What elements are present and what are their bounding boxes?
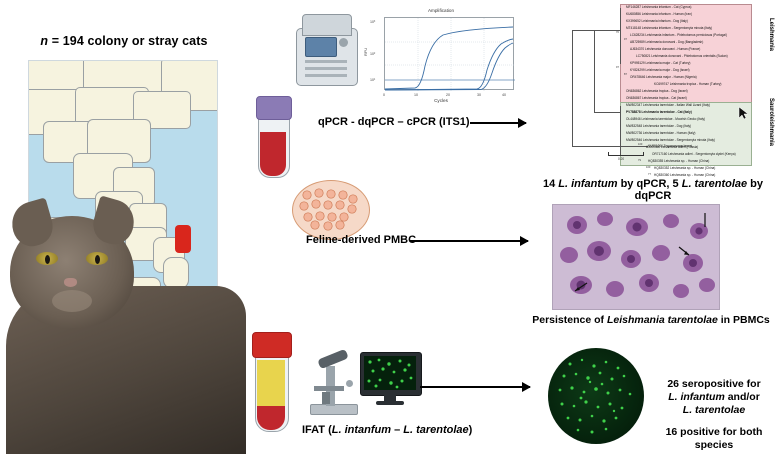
microscope-objective xyxy=(322,392,330,404)
bootstrap-1: 97 xyxy=(624,38,627,41)
arrow-to-tree xyxy=(470,122,526,124)
branch-to-sauroleishmania xyxy=(594,112,620,113)
branch-root-vertical xyxy=(572,30,573,146)
ifat-results-text: 26 seropositive for L. infantum and/or L… xyxy=(652,378,776,452)
ifat-result-line-2: L. infantum and/or xyxy=(652,391,776,404)
pbmc-step-label: Feline-derived PMBC xyxy=(306,234,416,246)
amplification-chart: Amplification RFU Cycles 10³ 10² 10¹ 0 1… xyxy=(362,8,520,104)
taxon-leish-2: KX399652 Leishmania infantum - Dog (Ital… xyxy=(626,20,688,24)
pbmc-caption-prefix: Persistence of xyxy=(532,314,607,326)
cat-photo xyxy=(0,190,246,454)
taxon-sauro-7: OR717160 Leishmania adleri - Sergentomyi… xyxy=(652,153,736,157)
ifat-species-1: L. intanfum xyxy=(332,424,391,436)
ifat-label-prefix: IFAT ( xyxy=(302,424,332,436)
ifat-results-spacer xyxy=(652,417,776,426)
taxon-sauro-4: MW802736 Leishmania tarentolae - Human (… xyxy=(626,132,695,136)
ifat-result-species-2: L. tarentolae xyxy=(683,404,745,416)
chart-plot-area xyxy=(384,17,514,90)
taxon-leish-13: ON636867 Leishmania tropica - Cat (Israe… xyxy=(626,97,687,101)
ifat-fluorescent-parasites xyxy=(548,348,644,444)
pbmc-caption-species: Leishmania tarentolae xyxy=(607,314,718,326)
ifat-label-suffix: ) xyxy=(469,424,473,436)
amplification-curves xyxy=(385,18,515,91)
tree-caption-species-1: L. infantum xyxy=(558,178,617,190)
tree-caption-middle: by qPCR, 5 xyxy=(618,178,682,190)
serum-tube xyxy=(252,332,290,430)
bootstrap-7: 77 xyxy=(648,173,651,176)
bootstrap-6: 100 xyxy=(646,166,650,169)
study-population-panel: n = 194 colony or stray cats xyxy=(0,0,246,454)
taxon-leish-10: OR478646 Leishmania major - Human (Niger… xyxy=(630,76,697,80)
tube-cap-red xyxy=(252,332,292,358)
pcr-step-label: qPCR - dqPCR – cPCR (ITS1) xyxy=(318,116,470,128)
pbmc-stained-cells xyxy=(553,205,719,309)
ifat-result-species-1: L. infantum xyxy=(668,391,725,403)
x-tick-0: 0 xyxy=(383,93,385,97)
thermocycler-icon xyxy=(296,14,356,92)
branch-sauro-spine xyxy=(620,106,621,156)
fluorescence-monitor-icon xyxy=(360,352,420,408)
ifat-species-2: L. tarentolae xyxy=(403,424,468,436)
thermocycler-keypad-row1 xyxy=(305,60,347,63)
pbmc-caption: Persistence of Leishmania tarentolae in … xyxy=(524,314,778,326)
thermocycler-keypad-row2 xyxy=(305,67,347,70)
sample-size-symbol: n xyxy=(40,34,48,48)
sample-size-text: = 194 colony or stray cats xyxy=(48,34,207,48)
taxon-leish-1: KU680856 Leishmania infantum - Human (Ir… xyxy=(626,13,692,17)
taxon-leish-3: MT418148 Leishmania infantum - Sergentom… xyxy=(626,27,712,31)
taxon-leish-8: KP995129 Leishmania major - Cat (Turkey) xyxy=(630,62,690,66)
tree-caption-species-2: L. tarentolae xyxy=(682,178,747,190)
x-tick-1: 10 xyxy=(414,93,418,97)
y-tick-2: 10¹ xyxy=(370,78,375,82)
taxon-sauro-9: HQ830352 Leishmania sp. - Human (China) xyxy=(654,167,715,171)
pbmc-cells xyxy=(298,187,362,231)
ifat-result-line-2-rest: and/or xyxy=(725,391,760,403)
thermocycler-keypad-row3 xyxy=(305,74,347,77)
branch-root-outgroup xyxy=(572,146,648,147)
taxon-leish-12: ON636862 Leishmania tropica - Dog (Israe… xyxy=(626,90,688,94)
bootstrap-5: 79 xyxy=(638,159,641,162)
clot-layer xyxy=(257,406,285,430)
y-tick-0: 10³ xyxy=(370,20,375,24)
cat-pupil-right xyxy=(95,255,100,264)
thermocycler-lid xyxy=(302,14,352,36)
tree-caption-prefix: 14 xyxy=(543,178,558,190)
page-title: n = 194 colony or stray cats xyxy=(8,34,240,48)
ifat-result-line-3: L. tarentolae xyxy=(652,404,776,417)
taxon-sauro-8: HQ830355 Leishmania sp. - Human (China) xyxy=(648,160,709,164)
branch-split-vertical xyxy=(594,30,595,112)
ifat-result-line-4: 16 positive for both species xyxy=(652,426,776,452)
tube-blood xyxy=(260,132,286,176)
tree-scale-value: 0.20 xyxy=(618,157,624,161)
taxon-leish-11: KC699747 Leishmania tropica - Human (Tur… xyxy=(654,83,721,87)
taxon-leish-4: LC628234 Leishmania infantum - Phlebotom… xyxy=(630,34,727,38)
ifat-result-line-1: 26 seropositive for xyxy=(652,378,776,391)
taxon-sauro-1-highlight: PV788878 Leishmania tarentolae - Cat (It… xyxy=(626,111,692,115)
edta-blood-tube xyxy=(256,96,290,176)
taxon-leish-5: AB725989 Leishmania donovani - Dog (Bang… xyxy=(630,41,703,45)
taxon-leish-0: MF146287 Leishmania infantum - Cat (Cypr… xyxy=(626,6,691,10)
taxon-sauro-2: OL448946 Leishmania tarentolae - Moorish… xyxy=(626,118,705,122)
thermocycler-dial xyxy=(339,38,348,47)
y-tick-1: 10² xyxy=(370,52,375,56)
tube-cap-purple xyxy=(256,96,292,120)
tree-scale-bar xyxy=(608,152,644,156)
x-tick-4: 40 xyxy=(502,93,506,97)
branch-root-upper xyxy=(572,30,594,31)
bootstrap-0: 70 xyxy=(616,31,619,34)
monitor-fluorescent-dots xyxy=(364,356,416,390)
outgroup-taxon: KU551206 Trypanosoma brucei xyxy=(648,144,692,148)
petri-dish-icon xyxy=(292,180,368,238)
pointer-cursor-icon xyxy=(738,106,752,120)
pbmc-caption-suffix: in PBMCs xyxy=(718,314,770,326)
x-tick-2: 20 xyxy=(446,93,450,97)
taxon-leish-9: KY824299 Leishmania major - Dog (Israel) xyxy=(630,69,690,73)
microscope-icon xyxy=(300,350,362,416)
tree-caption: 14 L. infantum by qPCR, 5 L. tarentolae … xyxy=(528,178,778,202)
cat-pupil-left xyxy=(45,255,50,264)
phylogenetic-tree: MF146287 Leishmania infantum - Cat (Cypr… xyxy=(520,2,776,174)
ifat-step-label: IFAT (L. intanfum – L. tarentolae) xyxy=(302,424,472,436)
taxon-sauro-3: MW832548 Leishmania tarentolae - Dog (It… xyxy=(626,125,691,129)
cat-muzzle xyxy=(52,290,92,312)
x-tick-3: 30 xyxy=(477,93,481,97)
taxon-leish-7: LC750821 Leishmania donovani - Phlebotom… xyxy=(636,55,728,59)
bootstrap-2: 97 xyxy=(616,66,619,69)
chart-ylabel: RFU xyxy=(363,48,368,56)
taxon-leish-6: AJ634370 Leishmania donovani - Human (Fr… xyxy=(630,48,700,52)
arrow-to-pbmc-image xyxy=(410,240,528,242)
chart-title: Amplification xyxy=(362,8,520,13)
thermocycler-screen xyxy=(305,37,337,57)
monitor-stand xyxy=(376,401,404,405)
microscope-focus-knob xyxy=(346,380,353,387)
group-label-sauroleishmania: Sauroleishmania xyxy=(768,98,774,146)
branch-leishmania-spine xyxy=(620,8,621,64)
ifat-fluorescence-image xyxy=(548,348,644,444)
pbmc-micrograph xyxy=(552,204,720,310)
chart-xlabel: Cycles xyxy=(362,98,520,103)
group-label-leishmania: Leishmania xyxy=(768,18,774,51)
taxon-sauro-0: MW802347 Leishmania tarentolae - Italian… xyxy=(626,104,710,108)
arrow-to-ifat-image xyxy=(420,386,530,388)
serum-layer xyxy=(257,360,285,406)
ifat-label-dash: – xyxy=(391,424,403,436)
microscope-stage xyxy=(314,386,344,391)
bootstrap-4: 100 xyxy=(638,143,642,146)
cat-nose xyxy=(64,278,77,287)
bootstrap-3: 87 xyxy=(624,73,627,76)
